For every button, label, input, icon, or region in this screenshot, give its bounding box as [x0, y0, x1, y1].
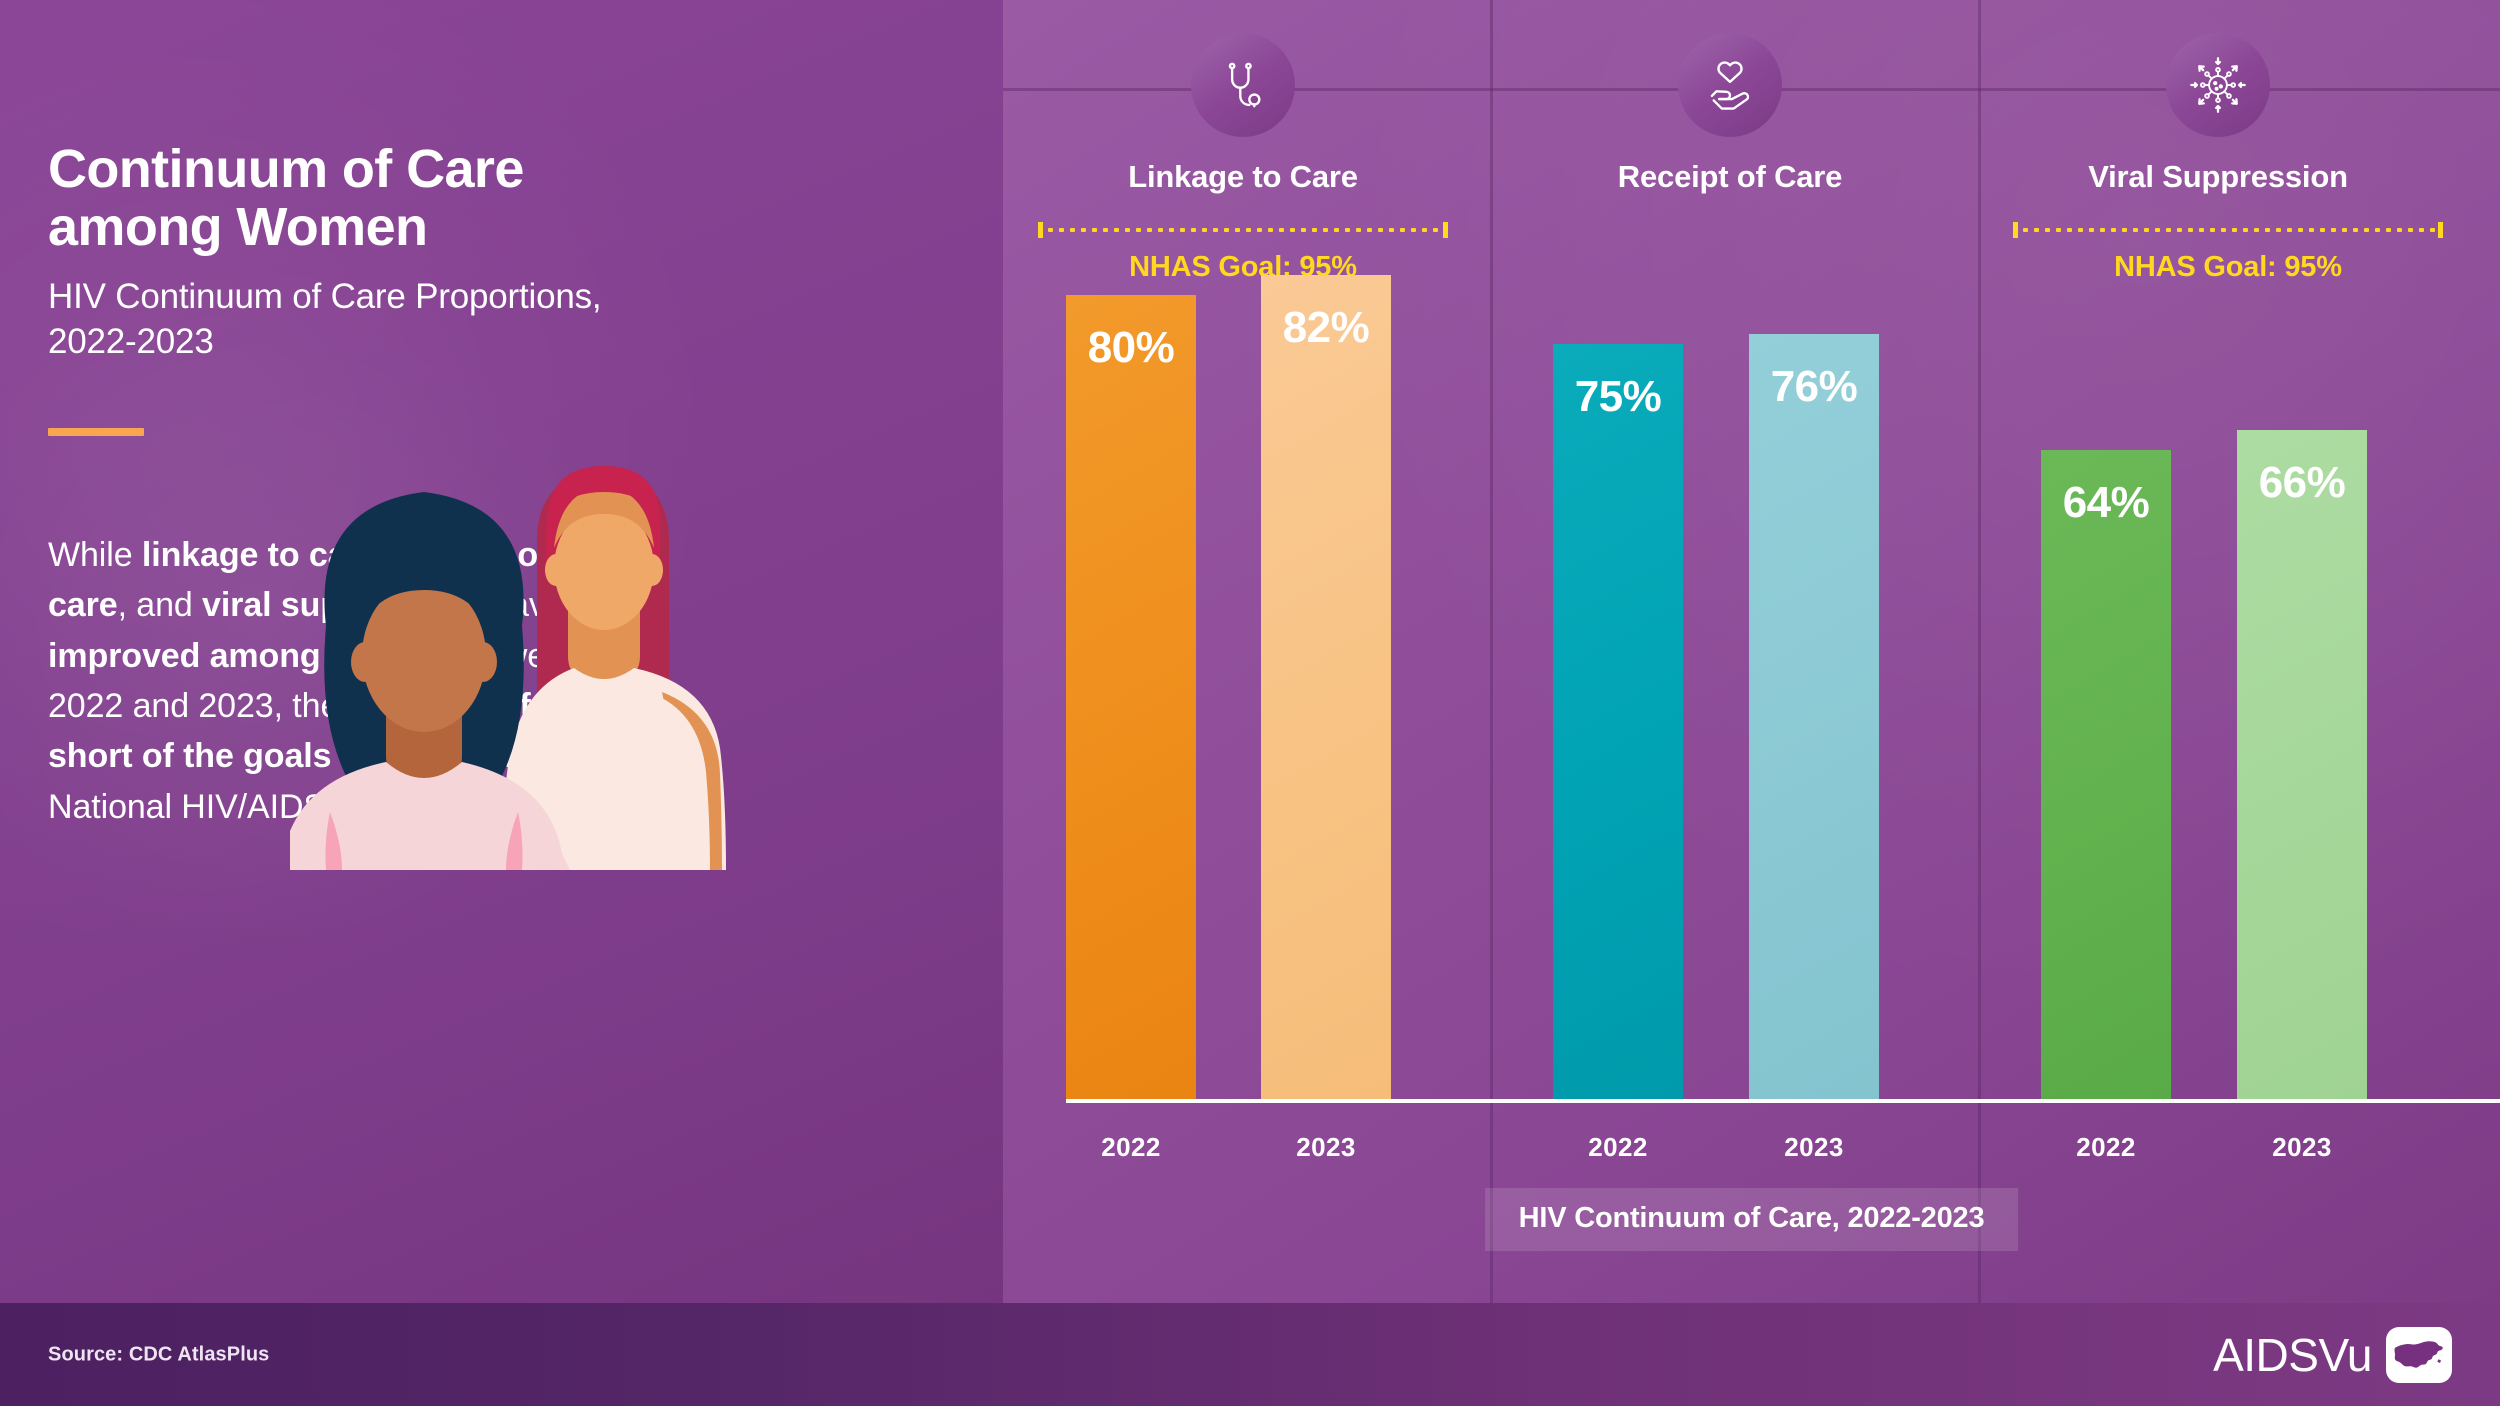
- accent-rule: [48, 428, 144, 436]
- bar-linkage-2023: 82%: [1261, 275, 1391, 1100]
- source-note: Source: CDC AtlasPlus: [48, 1343, 269, 1366]
- bar-viral-2023: 66%: [2237, 430, 2367, 1100]
- x-tick-label: 2023: [1719, 1132, 1909, 1163]
- footer-bar: Source: CDC AtlasPlus AIDSVu: [0, 1303, 2500, 1406]
- bar-plot: 80% 82% 75% 76% 64% 66%: [1003, 0, 2500, 1303]
- bar-receipt-2022: 75%: [1553, 344, 1683, 1100]
- bar-value-label: 64%: [2063, 478, 2150, 1100]
- x-tick-label: 2022: [1036, 1132, 1226, 1163]
- infographic-canvas: Continuum of Care among Women HIV Contin…: [0, 0, 2500, 1406]
- x-tick-label: 2022: [2011, 1132, 2201, 1163]
- us-map-icon: [2386, 1327, 2452, 1383]
- bar-receipt-2023: 76%: [1749, 334, 1879, 1100]
- bar-value-label: 75%: [1575, 372, 1662, 1100]
- logo-wordmark: AIDSVu: [2213, 1328, 2372, 1382]
- chart-panel: Linkage to Care Receipt of Care: [1003, 0, 2500, 1303]
- woman-left: [290, 492, 570, 870]
- two-women-illustration: [290, 430, 740, 870]
- bar-value-label: 66%: [2259, 458, 2346, 1100]
- bar-viral-2022: 64%: [2041, 450, 2171, 1100]
- bar-value-label: 82%: [1283, 303, 1370, 1100]
- chart-caption: HIV Continuum of Care, 2022-2023: [1485, 1188, 2019, 1251]
- bar-value-label: 76%: [1771, 362, 1858, 1100]
- axis-baseline: [1066, 1099, 2500, 1103]
- bar-linkage-2022: 80%: [1066, 295, 1196, 1100]
- aidsvu-logo[interactable]: AIDSVu: [2213, 1327, 2452, 1383]
- x-tick-label: 2022: [1523, 1132, 1713, 1163]
- bar-value-label: 80%: [1088, 323, 1175, 1100]
- page-subtitle: HIV Continuum of Care Proportions, 2022-…: [48, 275, 608, 365]
- page-title: Continuum of Care among Women: [48, 140, 688, 257]
- x-tick-label: 2023: [2207, 1132, 2397, 1163]
- intro-panel: Continuum of Care among Women HIV Contin…: [0, 0, 1003, 1303]
- x-tick-label: 2023: [1231, 1132, 1421, 1163]
